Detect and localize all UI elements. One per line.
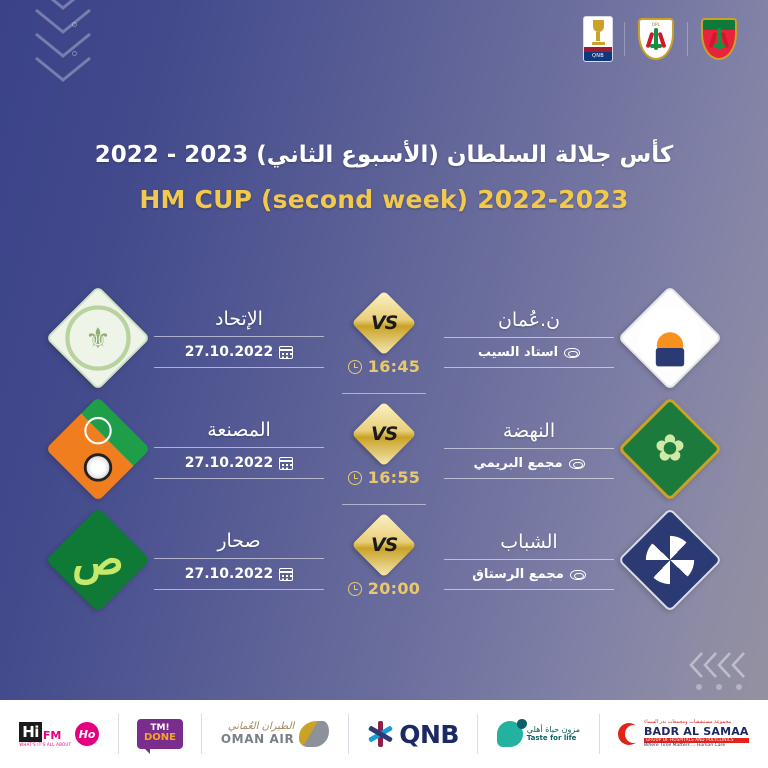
oman-professional-league-logo: OPL bbox=[625, 16, 687, 62]
info-rule bbox=[154, 589, 324, 590]
title-english: HM CUP (second week) 2022-2023 bbox=[0, 185, 768, 214]
vs-label: VS bbox=[371, 312, 397, 334]
match-date-row: 27.10.2022 bbox=[154, 337, 324, 367]
dot-decoration-bottom-right bbox=[696, 684, 742, 690]
hi-fm-mark: Hi bbox=[19, 722, 42, 742]
ittihad-crest: ⚜ bbox=[46, 286, 151, 391]
hi-fm-tagline: WHAT'S IT'S ALL ABOUT bbox=[19, 742, 71, 747]
vs-badge: VS bbox=[351, 401, 416, 466]
oman-football-association-logo bbox=[688, 16, 750, 62]
home-info: المصنعة 27.10.2022 bbox=[154, 419, 324, 479]
sponsor-divider bbox=[118, 714, 119, 754]
hi-fm-logo[interactable]: Hi FM WHAT'S IT'S ALL ABOUT Ho bbox=[19, 711, 99, 757]
qnb-logo[interactable]: QNB bbox=[367, 711, 459, 757]
match-venue: مجمع البريمي bbox=[473, 456, 562, 471]
match-time: 16:45 bbox=[368, 357, 420, 376]
badr-crescent-icon bbox=[618, 723, 640, 745]
sponsor-divider bbox=[477, 714, 478, 754]
qnb-cup-logo: QNB bbox=[572, 16, 624, 62]
info-rule bbox=[444, 589, 614, 590]
match-date-row: 27.10.2022 bbox=[154, 448, 324, 478]
home-info: الإتحاد 27.10.2022 bbox=[154, 308, 324, 368]
match-row[interactable]: ⚜ الإتحاد 27.10.2022 VS 16:45 bbox=[0, 283, 768, 393]
oman-air-logo[interactable]: الطيران العُماني OMAN AIR bbox=[221, 711, 329, 757]
sponsor-footer: Hi FM WHAT'S IT'S ALL ABOUT Ho TM! DONE … bbox=[0, 700, 768, 768]
vs-label: VS bbox=[371, 423, 397, 445]
deco-dot bbox=[72, 22, 77, 27]
home-team-name: الإتحاد bbox=[154, 308, 324, 336]
sponsor-divider bbox=[348, 714, 349, 754]
away-team-name: الشباب bbox=[444, 531, 614, 559]
row-divider bbox=[342, 504, 426, 505]
info-rule bbox=[444, 478, 614, 479]
match-list: ⚜ الإتحاد 27.10.2022 VS 16:45 bbox=[0, 283, 768, 615]
home-info: صحار 27.10.2022 bbox=[154, 530, 324, 590]
vs-badge: VS bbox=[351, 512, 416, 577]
match-row[interactable]: 🌕 المصنعة 27.10.2022 VS 16:5 bbox=[0, 394, 768, 504]
calendar-icon bbox=[279, 346, 293, 359]
poster-title-block: كأس جلالة السلطان (الأسبوع الثاني) 2023 … bbox=[0, 140, 768, 214]
shabab-crest bbox=[618, 508, 723, 613]
away-crest-wrap bbox=[614, 301, 726, 375]
vs-badge: VS bbox=[351, 290, 416, 355]
match-venue-row: مجمع الرستاق bbox=[444, 560, 614, 589]
match-row[interactable]: ص صحار 27.10.2022 VS 20:00 bbox=[0, 505, 768, 615]
match-date-row: 27.10.2022 bbox=[154, 559, 324, 589]
info-rule bbox=[154, 367, 324, 368]
header-logo-group: QNB OPL bbox=[572, 16, 750, 62]
dot-decoration-top-left bbox=[72, 22, 77, 56]
stadium-icon bbox=[570, 570, 586, 580]
match-centre: VS 20:00 bbox=[324, 522, 444, 598]
chevron-decoration-bottom-right bbox=[688, 650, 750, 684]
home-team-name: صحار bbox=[154, 530, 324, 558]
musannah-crest: 🌕 bbox=[46, 397, 151, 502]
away-info: ن.عُمان استاد السيب bbox=[444, 309, 614, 368]
away-team-name: ن.عُمان bbox=[444, 309, 614, 337]
stadium-icon bbox=[564, 348, 580, 358]
tm-done-line2: DONE bbox=[144, 733, 176, 744]
stadium-icon bbox=[569, 459, 585, 469]
match-centre: VS 16:45 bbox=[324, 300, 444, 376]
home-crest-wrap: ص bbox=[42, 523, 154, 597]
match-time: 16:55 bbox=[368, 468, 420, 487]
match-time-row: 20:00 bbox=[348, 579, 420, 598]
qnb-wordmark: QNB bbox=[399, 720, 459, 749]
nahda-crest: ✿ bbox=[618, 397, 723, 502]
hi-fm-circle: Ho bbox=[75, 722, 99, 746]
mazoon-logo[interactable]: مزون حياة أهلي Taste for life bbox=[497, 711, 580, 757]
match-date: 27.10.2022 bbox=[185, 566, 274, 582]
clock-icon bbox=[348, 582, 362, 596]
match-date: 27.10.2022 bbox=[185, 344, 274, 360]
clock-icon bbox=[348, 360, 362, 374]
title-arabic: كأس جلالة السلطان (الأسبوع الثاني) 2023 … bbox=[0, 140, 768, 171]
match-time-row: 16:55 bbox=[348, 468, 420, 487]
info-rule bbox=[444, 367, 614, 368]
qnb-star-icon bbox=[367, 721, 393, 747]
away-crest-wrap bbox=[614, 523, 726, 597]
hm-cup-fixture-poster: QNB OPL bbox=[0, 0, 768, 768]
badr-al-samaa-logo[interactable]: مجموعة مستشفيات ومجمعات بدر السماء BADR … bbox=[618, 711, 749, 757]
qnb-cup-label: QNB bbox=[584, 53, 612, 59]
hi-fm-fm: FM bbox=[43, 729, 61, 742]
oman-air-english: OMAN AIR bbox=[221, 733, 294, 747]
mazoon-english: Taste for life bbox=[527, 735, 580, 743]
deco-dot bbox=[736, 684, 742, 690]
match-venue-row: استاد السيب bbox=[444, 338, 614, 367]
tm-done-logo[interactable]: TM! DONE bbox=[137, 711, 183, 757]
match-time: 20:00 bbox=[368, 579, 420, 598]
home-team-name: المصنعة bbox=[154, 419, 324, 447]
match-time-row: 16:45 bbox=[348, 357, 420, 376]
calendar-icon bbox=[279, 457, 293, 470]
info-rule bbox=[154, 478, 324, 479]
match-centre: VS 16:55 bbox=[324, 411, 444, 487]
row-divider bbox=[342, 393, 426, 394]
oman-club-crest bbox=[618, 286, 723, 391]
match-date: 27.10.2022 bbox=[185, 455, 274, 471]
mazoon-drop-icon bbox=[497, 721, 523, 747]
match-venue: مجمع الرستاق bbox=[472, 567, 564, 582]
chevron-decoration-top-left bbox=[18, 0, 108, 96]
sponsor-divider bbox=[201, 714, 202, 754]
away-team-name: النهضة bbox=[444, 420, 614, 448]
badr-tagline: Where Time Matters ... Human Care bbox=[644, 743, 749, 748]
away-info: النهضة مجمع البريمي bbox=[444, 420, 614, 479]
away-crest-wrap: ✿ bbox=[614, 412, 726, 486]
match-venue: استاد السيب bbox=[478, 345, 558, 360]
home-crest-wrap: 🌕 bbox=[42, 412, 154, 486]
vs-label: VS bbox=[371, 534, 397, 556]
clock-icon bbox=[348, 471, 362, 485]
match-venue-row: مجمع البريمي bbox=[444, 449, 614, 478]
sponsor-divider bbox=[599, 714, 600, 754]
deco-dot bbox=[72, 51, 77, 56]
calendar-icon bbox=[279, 568, 293, 581]
home-crest-wrap: ⚜ bbox=[42, 301, 154, 375]
deco-dot bbox=[696, 684, 702, 690]
oman-air-wing-icon bbox=[299, 721, 329, 747]
away-info: الشباب مجمع الرستاق bbox=[444, 531, 614, 590]
sohar-crest: ص bbox=[46, 508, 151, 613]
deco-dot bbox=[716, 684, 722, 690]
